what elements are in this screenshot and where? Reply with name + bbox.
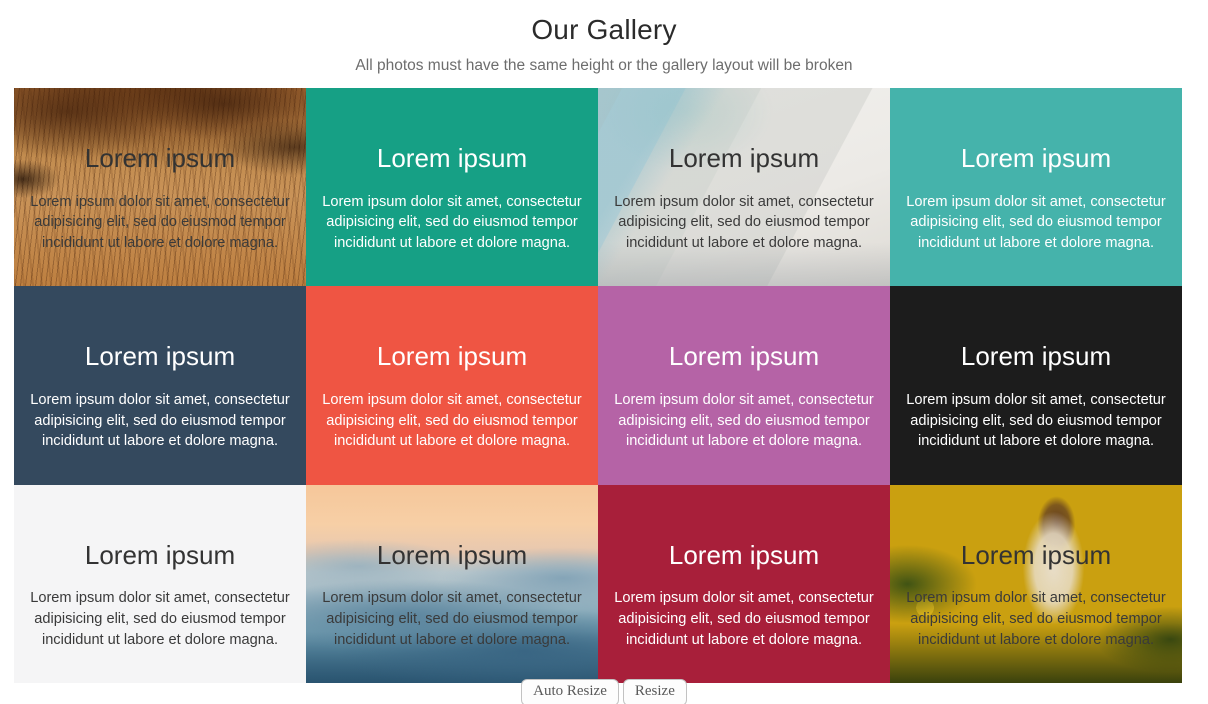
- tile-description: Lorem ipsum dolor sit amet, consectetur …: [320, 192, 584, 254]
- gallery-tile[interactable]: Lorem ipsumLorem ipsum dolor sit amet, c…: [306, 485, 598, 683]
- tile-content: Lorem ipsumLorem ipsum dolor sit amet, c…: [306, 342, 598, 452]
- tile-title: Lorem ipsum: [320, 144, 584, 173]
- gallery-page: Our Gallery All photos must have the sam…: [0, 0, 1208, 704]
- tile-title: Lorem ipsum: [28, 541, 292, 570]
- page-subtitle: All photos must have the same height or …: [0, 46, 1208, 75]
- tile-description: Lorem ipsum dolor sit amet, consectetur …: [320, 588, 584, 650]
- gallery-tile[interactable]: Lorem ipsumLorem ipsum dolor sit amet, c…: [890, 88, 1182, 286]
- auto-resize-button[interactable]: Auto Resize: [521, 679, 619, 704]
- tile-description: Lorem ipsum dolor sit amet, consectetur …: [28, 192, 292, 254]
- gallery-tile[interactable]: Lorem ipsumLorem ipsum dolor sit amet, c…: [598, 286, 890, 484]
- gallery-tile[interactable]: Lorem ipsumLorem ipsum dolor sit amet, c…: [306, 88, 598, 286]
- tile-content: Lorem ipsumLorem ipsum dolor sit amet, c…: [890, 144, 1182, 254]
- tile-content: Lorem ipsumLorem ipsum dolor sit amet, c…: [14, 342, 306, 452]
- tile-title: Lorem ipsum: [612, 342, 876, 371]
- tile-content: Lorem ipsumLorem ipsum dolor sit amet, c…: [890, 541, 1182, 651]
- tile-title: Lorem ipsum: [904, 342, 1168, 371]
- tile-description: Lorem ipsum dolor sit amet, consectetur …: [612, 588, 876, 650]
- tile-content: Lorem ipsumLorem ipsum dolor sit amet, c…: [306, 144, 598, 254]
- gallery-tile[interactable]: Lorem ipsumLorem ipsum dolor sit amet, c…: [14, 88, 306, 286]
- gallery-tile[interactable]: Lorem ipsumLorem ipsum dolor sit amet, c…: [306, 286, 598, 484]
- gallery-tile[interactable]: Lorem ipsumLorem ipsum dolor sit amet, c…: [14, 485, 306, 683]
- gallery-grid: Lorem ipsumLorem ipsum dolor sit amet, c…: [14, 88, 1182, 683]
- resize-button[interactable]: Resize: [623, 679, 687, 704]
- tile-description: Lorem ipsum dolor sit amet, consectetur …: [320, 390, 584, 452]
- tile-title: Lorem ipsum: [904, 541, 1168, 570]
- tile-title: Lorem ipsum: [320, 541, 584, 570]
- page-title: Our Gallery: [0, 0, 1208, 46]
- gallery-tile[interactable]: Lorem ipsumLorem ipsum dolor sit amet, c…: [598, 88, 890, 286]
- tile-description: Lorem ipsum dolor sit amet, consectetur …: [28, 390, 292, 452]
- tile-description: Lorem ipsum dolor sit amet, consectetur …: [612, 192, 876, 254]
- tile-description: Lorem ipsum dolor sit amet, consectetur …: [612, 390, 876, 452]
- tile-description: Lorem ipsum dolor sit amet, consectetur …: [904, 390, 1168, 452]
- tile-description: Lorem ipsum dolor sit amet, consectetur …: [904, 192, 1168, 254]
- tile-description: Lorem ipsum dolor sit amet, consectetur …: [904, 588, 1168, 650]
- tile-content: Lorem ipsumLorem ipsum dolor sit amet, c…: [598, 541, 890, 651]
- footer-button-bar: Auto Resize Resize: [0, 679, 1208, 704]
- tile-content: Lorem ipsumLorem ipsum dolor sit amet, c…: [598, 144, 890, 254]
- gallery-tile[interactable]: Lorem ipsumLorem ipsum dolor sit amet, c…: [598, 485, 890, 683]
- tile-title: Lorem ipsum: [28, 144, 292, 173]
- gallery-tile[interactable]: Lorem ipsumLorem ipsum dolor sit amet, c…: [14, 286, 306, 484]
- tile-title: Lorem ipsum: [612, 144, 876, 173]
- tile-title: Lorem ipsum: [612, 541, 876, 570]
- gallery-tile[interactable]: Lorem ipsumLorem ipsum dolor sit amet, c…: [890, 485, 1182, 683]
- tile-title: Lorem ipsum: [320, 342, 584, 371]
- gallery-tile[interactable]: Lorem ipsumLorem ipsum dolor sit amet, c…: [890, 286, 1182, 484]
- tile-content: Lorem ipsumLorem ipsum dolor sit amet, c…: [598, 342, 890, 452]
- tile-title: Lorem ipsum: [28, 342, 292, 371]
- tile-title: Lorem ipsum: [904, 144, 1168, 173]
- tile-content: Lorem ipsumLorem ipsum dolor sit amet, c…: [890, 342, 1182, 452]
- tile-content: Lorem ipsumLorem ipsum dolor sit amet, c…: [14, 541, 306, 651]
- tile-content: Lorem ipsumLorem ipsum dolor sit amet, c…: [14, 144, 306, 254]
- tile-content: Lorem ipsumLorem ipsum dolor sit amet, c…: [306, 541, 598, 651]
- tile-description: Lorem ipsum dolor sit amet, consectetur …: [28, 588, 292, 650]
